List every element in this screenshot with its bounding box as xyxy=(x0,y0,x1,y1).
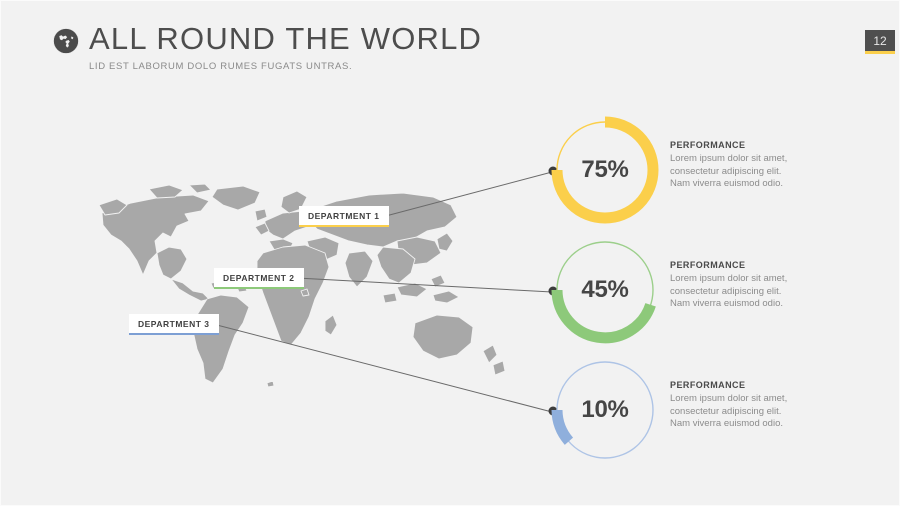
stat-heading-2: PERFORMANCE xyxy=(670,260,810,270)
stat-text-department-1: PERFORMANCE Lorem ipsum dolor sit amet, … xyxy=(670,140,810,191)
stat-description-3: Lorem ipsum dolor sit amet, consectetur … xyxy=(670,393,810,431)
stat-desc-line-1: Lorem ipsum dolor sit amet, xyxy=(670,393,810,406)
stat-desc-line-2: consectetur adipiscing elit. xyxy=(670,166,810,179)
stat-text-department-2: PERFORMANCE Lorem ipsum dolor sit amet, … xyxy=(670,260,810,311)
donut-chart-10: 10% xyxy=(549,354,661,466)
slide-canvas: ALL ROUND THE WORLD LID EST LABORUM DOLO… xyxy=(0,0,900,506)
stat-row-department-3: 10% PERFORMANCE Lorem ipsum dolor sit am… xyxy=(549,354,810,466)
stat-description-1: Lorem ipsum dolor sit amet, consectetur … xyxy=(670,153,810,191)
donut-value-45: 45% xyxy=(549,234,661,346)
page-title: ALL ROUND THE WORLD xyxy=(89,23,482,54)
stat-heading-1: PERFORMANCE xyxy=(670,140,810,150)
slide-header: ALL ROUND THE WORLD LID EST LABORUM DOLO… xyxy=(53,23,482,72)
stat-row-department-2: 45% PERFORMANCE Lorem ipsum dolor sit am… xyxy=(549,234,810,346)
stat-desc-line-1: Lorem ipsum dolor sit amet, xyxy=(670,273,810,286)
map-label-department-2[interactable]: DEPARTMENT 2 xyxy=(214,268,304,289)
stat-desc-line-2: consectetur adipiscing elit. xyxy=(670,286,810,299)
donut-value-75: 75% xyxy=(549,114,661,226)
stat-desc-line-3: Nam viverra euismod odio. xyxy=(670,298,810,311)
stat-heading-3: PERFORMANCE xyxy=(670,380,810,390)
stat-text-department-3: PERFORMANCE Lorem ipsum dolor sit amet, … xyxy=(670,380,810,431)
page-number-badge: 12 xyxy=(865,30,895,54)
donut-chart-45: 45% xyxy=(549,234,661,346)
globe-icon xyxy=(53,28,79,54)
title-row: ALL ROUND THE WORLD xyxy=(53,23,482,54)
map-label-department-1[interactable]: DEPARTMENT 1 xyxy=(299,206,389,227)
stat-desc-line-2: consectetur adipiscing elit. xyxy=(670,406,810,419)
donut-chart-75: 75% xyxy=(549,114,661,226)
stat-desc-line-3: Nam viverra euismod odio. xyxy=(670,418,810,431)
stat-description-2: Lorem ipsum dolor sit amet, consectetur … xyxy=(670,273,810,311)
page-subtitle: LID EST LABORUM DOLO RUMES FUGATS UNTRAS… xyxy=(89,61,482,72)
stat-row-department-1: 75% PERFORMANCE Lorem ipsum dolor sit am… xyxy=(549,114,810,226)
stat-desc-line-3: Nam viverra euismod odio. xyxy=(670,178,810,191)
stat-desc-line-1: Lorem ipsum dolor sit amet, xyxy=(670,153,810,166)
donut-value-10: 10% xyxy=(549,354,661,466)
map-label-department-3[interactable]: DEPARTMENT 3 xyxy=(129,314,219,335)
